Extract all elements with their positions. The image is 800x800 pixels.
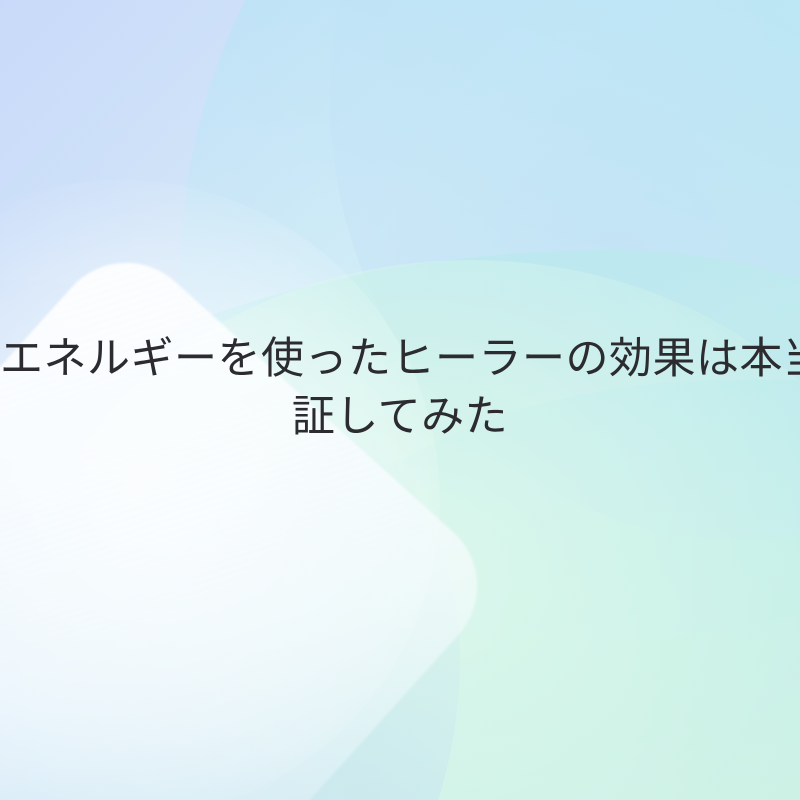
article-thumbnail-card: エネルギーを使ったヒーラーの効果は本当か口コミを検 証してみた [0, 0, 800, 800]
background-shape-white-light-shaft [0, 233, 507, 800]
article-title: エネルギーを使ったヒーラーの効果は本当か口コミを検 証してみた [0, 330, 800, 446]
background-shape-blue-ellipse-upper-right [330, 0, 800, 540]
background-shape-cyan-band-top [180, 0, 800, 640]
article-title-line-1: エネルギーを使ったヒーラーの効果は本当か口コミを検 [0, 330, 800, 388]
background-shape-upper-left-diagonal [0, 0, 795, 612]
background-shape-white-glow [0, 180, 440, 800]
article-title-line-2: 証してみた [0, 388, 800, 446]
